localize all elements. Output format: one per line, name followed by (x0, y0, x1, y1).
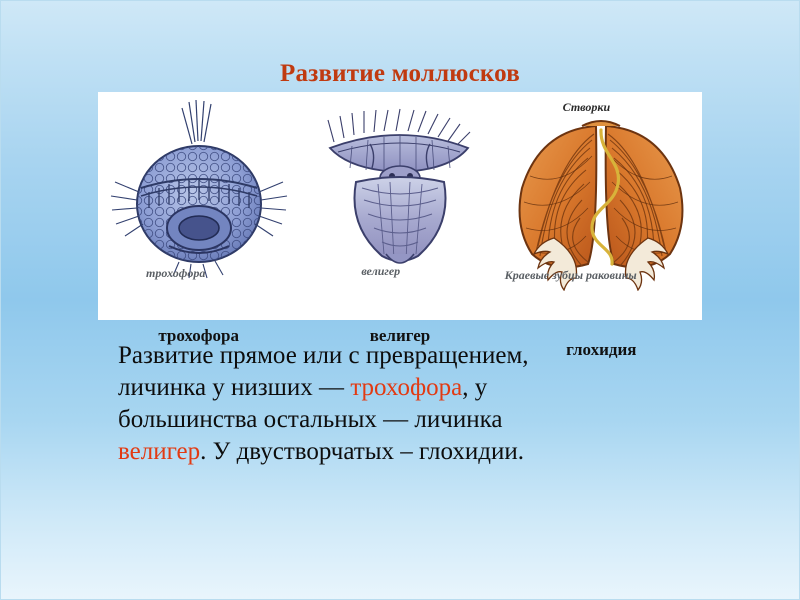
glochidium-inner-label: Краевые зубцы раковины (505, 268, 637, 283)
body-line-2: личинка у низших — трохофора, у (118, 372, 718, 404)
body-line-4-suffix: . У двустворчатых – глохидии. (200, 438, 524, 465)
body-text: Развитие прямое или с превращением, личи… (118, 340, 718, 468)
slide-canvas: Развитие моллюсков (0, 0, 800, 600)
figure-trochophore: трохофора трохофора (98, 92, 299, 320)
page-title: Развитие моллюсков (0, 60, 800, 88)
body-line-3-text: большинства остальных — личинка (118, 406, 503, 433)
trochophore-inner-label: трохофора (146, 266, 205, 281)
body-line-3: большинства остальных — личинка (118, 404, 718, 436)
figure-row: трохофора трохофора (98, 92, 702, 320)
glochidium-top-label: Створки (563, 100, 610, 115)
glochidium-larva-illustration (496, 96, 706, 291)
body-line-2-prefix: личинка у низших — (118, 374, 350, 401)
body-line-1-text: Развитие прямое или с превращением, (118, 342, 529, 369)
figure-panel: трохофора трохофора (98, 92, 702, 320)
veliger-inner-label: велигер (361, 264, 400, 279)
veliger-larva-illustration (300, 96, 500, 286)
term-trochophore: трохофора (350, 374, 462, 401)
term-veliger: велигер (118, 438, 200, 465)
body-line-1: Развитие прямое или с превращением, (118, 340, 718, 372)
figure-veliger: велигер велигер (299, 92, 500, 320)
body-line-2-suffix: , у (462, 374, 487, 401)
trochophore-larva-illustration (99, 96, 299, 286)
body-line-4: велигер. У двустворчатых – глохидии. (118, 436, 718, 468)
figure-glochidium: Створки Краевые зубцы раковины глохидия (501, 92, 702, 320)
